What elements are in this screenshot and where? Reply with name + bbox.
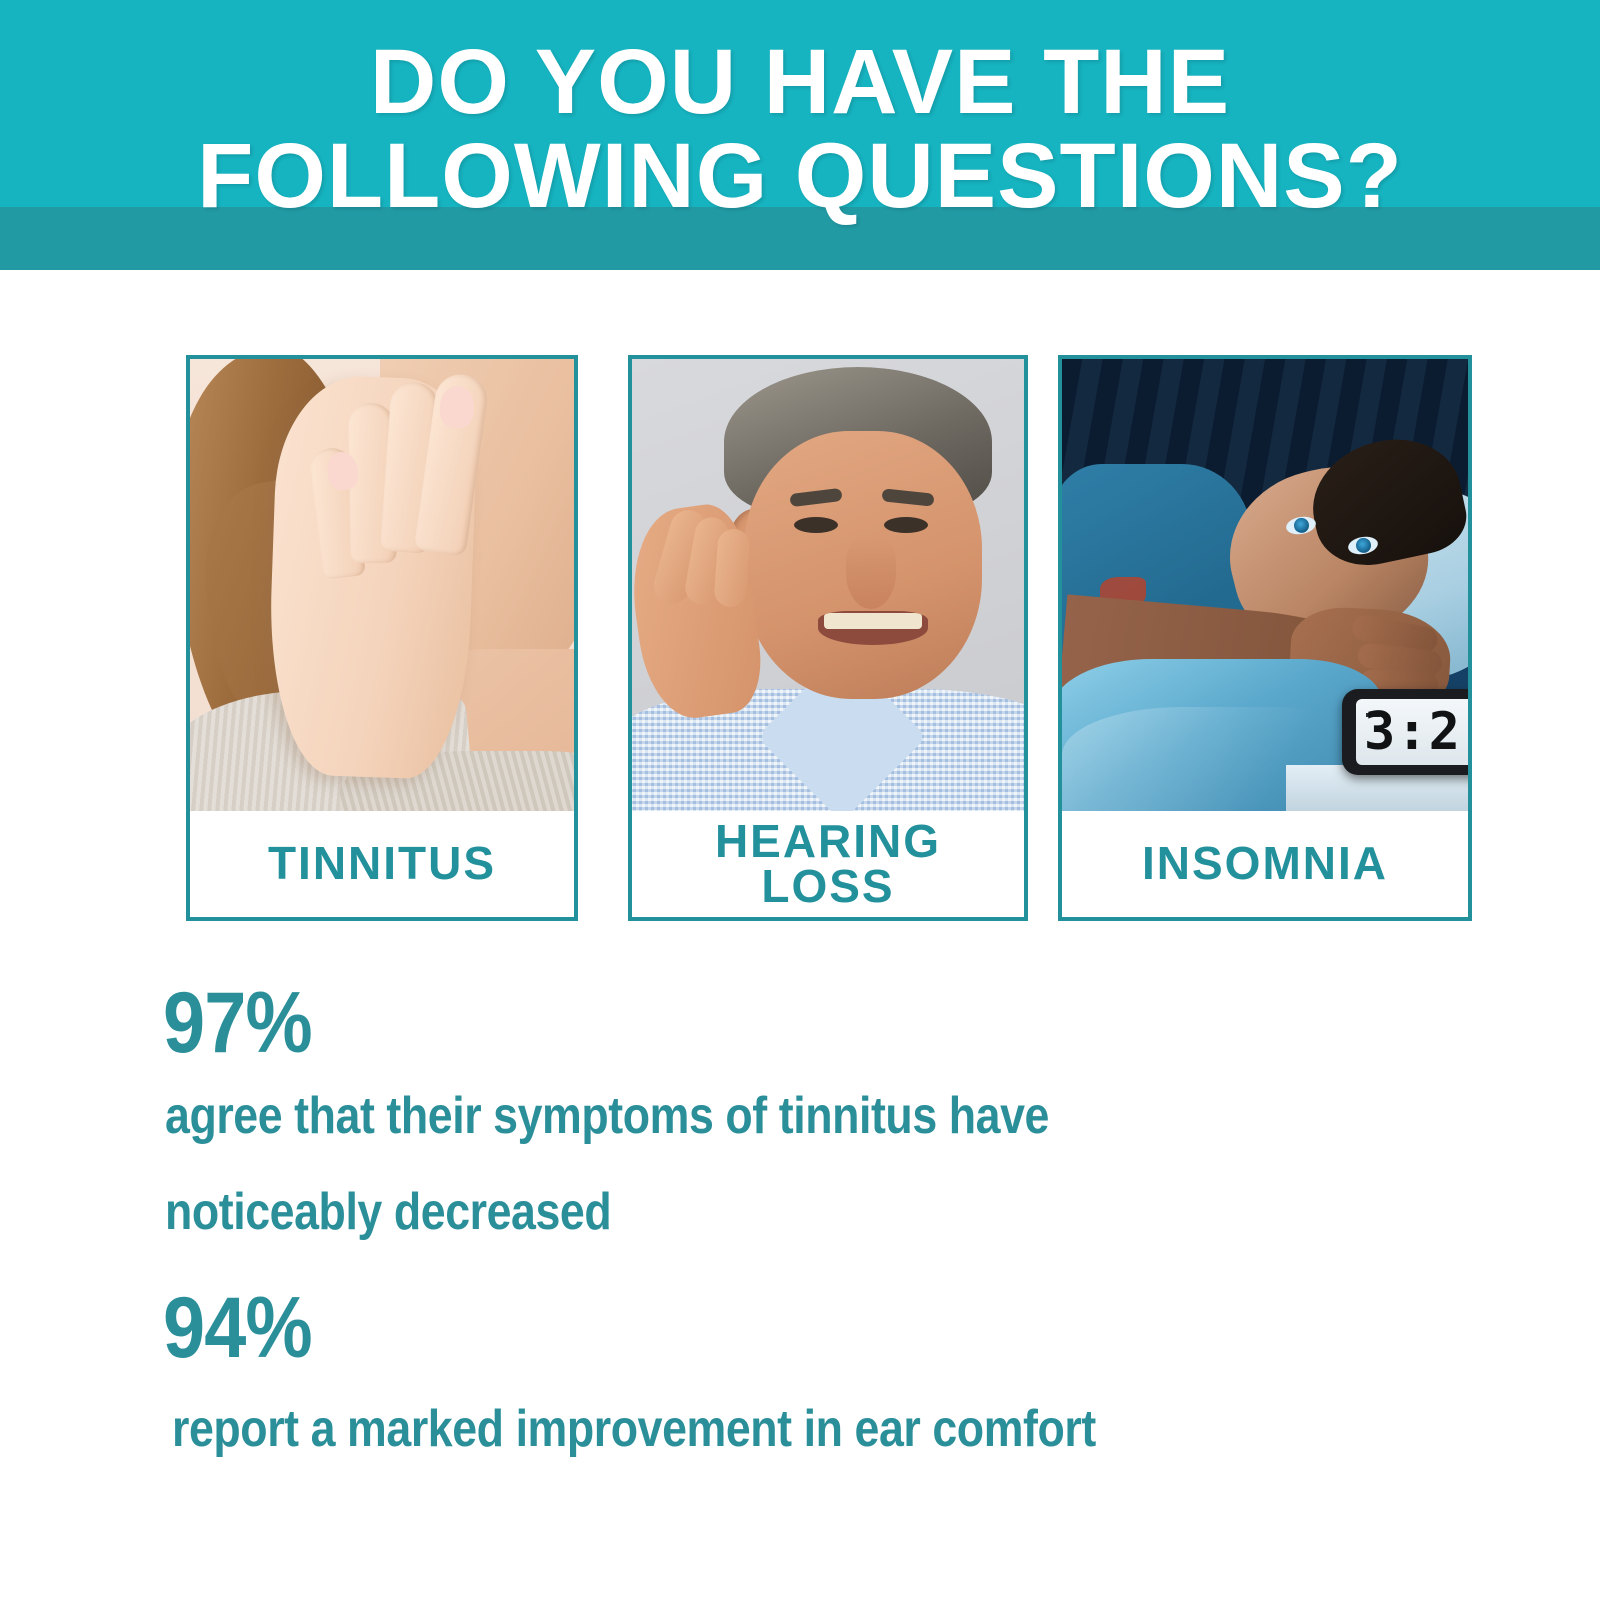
- photo-shape-mouth: [818, 611, 928, 645]
- photo-shape-nose: [846, 537, 896, 609]
- card-label: INSOMNIA: [1142, 841, 1388, 886]
- alarm-clock-icon: 3:2: [1342, 689, 1468, 775]
- statistic-description: report a marked improvement in ear comfo…: [172, 1381, 1096, 1477]
- insomnia-photo: 3:2: [1062, 359, 1468, 811]
- photo-shape-eye: [884, 517, 928, 533]
- card-label: HEARING LOSS: [715, 819, 941, 909]
- symptom-card-hearing-loss[interactable]: HEARING LOSS: [628, 355, 1028, 921]
- symptom-card-tinnitus[interactable]: TINNITUS: [186, 355, 578, 921]
- card-caption-insomnia: INSOMNIA: [1062, 811, 1468, 917]
- symptom-card-insomnia[interactable]: 3:2 INSOMNIA: [1058, 355, 1472, 921]
- photo-shape-hand: [265, 374, 479, 781]
- photo-shape-finger: [713, 528, 750, 608]
- alarm-clock-time: 3:2: [1364, 701, 1461, 763]
- card-caption-tinnitus: TINNITUS: [190, 811, 574, 917]
- photo-shape-teeth: [824, 613, 922, 629]
- tinnitus-photo: [190, 359, 574, 811]
- statistic-number: 94%: [163, 1285, 312, 1371]
- header-banner: DO YOU HAVE THE FOLLOWING QUESTIONS?: [0, 0, 1600, 270]
- statistic-description: agree that their symptoms of tinnitus ha…: [165, 1068, 1049, 1260]
- statistic-number: 97%: [163, 980, 312, 1066]
- photo-shape-eye: [794, 517, 838, 533]
- alarm-clock-screen: 3:2: [1356, 699, 1468, 765]
- symptom-cards-row: TINNITUS HEARING LOSS: [0, 355, 1600, 925]
- card-caption-hearing-loss: HEARING LOSS: [632, 811, 1024, 917]
- hearing-loss-photo: [632, 359, 1024, 811]
- photo-shape-fingernail: [439, 385, 474, 428]
- card-label: TINNITUS: [268, 841, 496, 886]
- page-title: DO YOU HAVE THE FOLLOWING QUESTIONS?: [0, 36, 1600, 224]
